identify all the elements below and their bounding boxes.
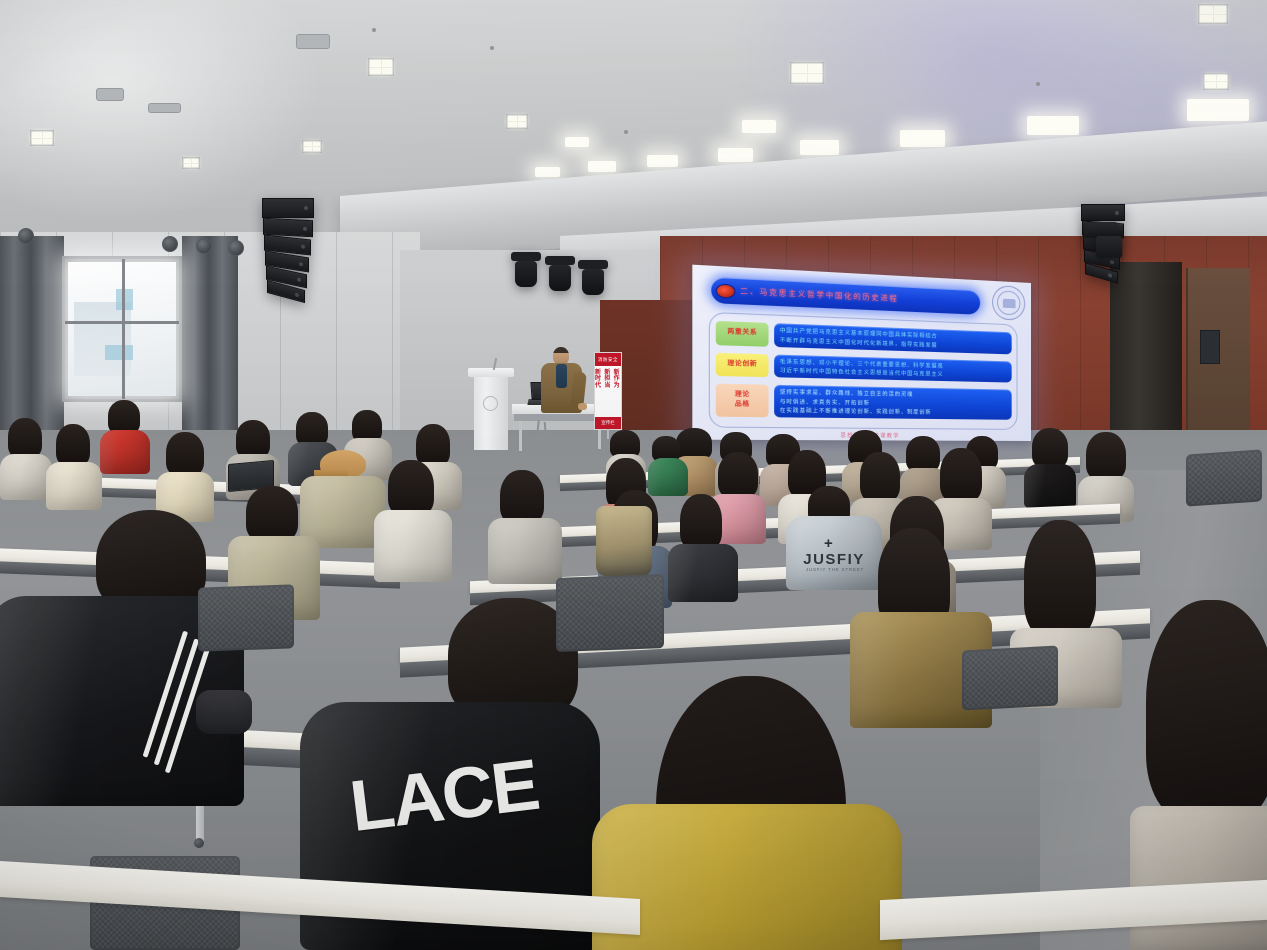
stage-moving-light	[511, 252, 541, 287]
chair[interactable]	[556, 574, 664, 652]
hoodie-plus-mark: +	[824, 536, 833, 551]
presenter-shirt	[556, 364, 567, 388]
ceiling-panel-light	[1187, 99, 1249, 121]
lectern-emblem-icon	[483, 396, 498, 411]
hair	[1032, 428, 1068, 468]
stage-truss-light	[1096, 236, 1122, 258]
wall-speaker	[162, 236, 178, 252]
seal-core	[1002, 298, 1015, 308]
backpack	[596, 506, 652, 576]
roll-up-banner: 消防安全 新时代 新担当 新作为 宣传栏	[594, 352, 622, 430]
chair[interactable]	[962, 645, 1058, 710]
hair	[680, 494, 722, 550]
hair	[416, 424, 450, 466]
ceiling-air-vent	[148, 103, 181, 113]
ceiling-quad-light	[506, 114, 528, 129]
chair-mesh	[964, 648, 1056, 709]
chair-mesh	[558, 576, 662, 650]
hair	[1146, 600, 1267, 820]
hair	[108, 400, 140, 434]
projection-screen: 二、马克思主义哲学中国化的历史进程 两重关系 中国共产党把马克思主义基本原理同中…	[692, 265, 1031, 441]
torso	[0, 454, 52, 500]
ceiling-panel-light	[742, 120, 776, 133]
ceiling-panel-light	[535, 167, 560, 177]
banner-footer: 宣传栏	[595, 417, 621, 429]
hair	[1086, 432, 1126, 480]
lectern-top	[468, 368, 514, 377]
window-curtain-left	[0, 236, 64, 436]
torso	[488, 518, 562, 584]
banner-column-text: 新作为	[614, 370, 621, 389]
sprinkler-head	[624, 130, 628, 134]
seal-inner-ring	[997, 290, 1020, 315]
torso	[1024, 464, 1076, 508]
slide-row-label: 理论创新	[716, 352, 769, 377]
ceiling-quad-light	[30, 130, 54, 146]
slide-row: 理论 品格 坚持实事求是、群众路线、独立自主的活的灵魂 与时俱进、求真务实、开拓…	[716, 384, 1012, 420]
line-array-speaker	[262, 198, 316, 299]
hoodie-brand-text: JUSFIY	[796, 552, 872, 567]
sprinkler-head	[372, 28, 376, 32]
door-sign	[1200, 330, 1220, 364]
table-leg	[519, 421, 522, 451]
slide-row-content: 中国共产党把马克思主义基本原理同中国具体实际相结合 不断开辟马克思主义中国化时代…	[774, 323, 1012, 354]
slide-row-label-text-2: 品格	[735, 400, 750, 410]
ceiling-quad-light	[1203, 73, 1229, 90]
presenter-hand	[578, 403, 587, 410]
hair	[8, 418, 42, 458]
exterior-detail	[105, 345, 133, 360]
torso	[100, 430, 150, 474]
ceiling-quad-light	[1198, 4, 1228, 24]
slide-row-label: 理论 品格	[716, 384, 769, 418]
banner-column: 新时代	[595, 370, 602, 410]
chair-mesh	[200, 586, 292, 649]
ceiling-quad-light	[790, 62, 824, 84]
hair	[296, 412, 328, 446]
torso	[648, 458, 688, 496]
ceiling-panel-light	[588, 161, 616, 172]
hair	[500, 470, 544, 524]
wall-speaker	[196, 238, 212, 254]
ceiling-air-vent	[296, 34, 330, 49]
hand	[196, 690, 252, 734]
hair	[246, 486, 298, 542]
ceiling-panel-light	[900, 130, 945, 147]
ceiling-air-vent	[96, 88, 124, 101]
slide-row: 理论创新 毛泽东思想、邓小平理论、三个代表重要思想、科学发展观 习近平新时代中国…	[716, 352, 1012, 382]
hair	[388, 460, 434, 516]
banner-column-text: 新担当	[604, 370, 611, 389]
hair	[906, 436, 940, 472]
banner-body: 新时代 新担当 新作为	[595, 368, 621, 410]
presentation-slide: 二、马克思主义哲学中国化的历史进程 两重关系 中国共产党把马克思主义基本原理同中…	[692, 265, 1031, 441]
desk-caster	[194, 838, 204, 848]
hair	[1024, 520, 1096, 638]
lectern	[474, 374, 508, 450]
banner-header-text: 消防安全	[595, 353, 621, 366]
ceiling-panel-light	[565, 137, 589, 147]
lecture-hall-photo: 二、马克思主义哲学中国化的历史进程 两重关系 中国共产党把马克思主义基本原理同中…	[0, 0, 1267, 950]
wall-speaker	[18, 228, 34, 244]
hoodie-brand-subtext: JUSFIY THE STREET	[800, 568, 870, 573]
slide-body: 两重关系 中国共产党把马克思主义基本原理同中国具体实际相结合 不断开辟马克思主义…	[709, 312, 1018, 430]
ceiling-panel-light	[647, 155, 678, 167]
window-mullion	[65, 321, 179, 324]
sprinkler-head	[490, 46, 494, 50]
banner-column-text: 新时代	[595, 370, 602, 389]
chair[interactable]	[198, 584, 294, 651]
ceiling-panel-light	[800, 140, 839, 155]
torso	[1130, 806, 1267, 950]
banner-column: 新作为	[614, 370, 621, 410]
chair[interactable]	[1186, 449, 1262, 506]
slide-row-label: 两重关系	[716, 321, 769, 346]
ceiling-quad-light	[182, 157, 200, 169]
slide-row-content: 毛泽东思想、邓小平理论、三个代表重要思想、科学发展观 习近平新时代中国特色社会主…	[774, 354, 1012, 383]
slide-text-line: 在实践基础上不断推进理论创新、实践创新、制度创新	[780, 407, 1007, 417]
hair	[56, 424, 90, 466]
hair	[236, 420, 270, 458]
slide-row: 两重关系 中国共产党把马克思主义基本原理同中国具体实际相结合 不断开辟马克思主义…	[716, 321, 1012, 354]
torso	[374, 510, 452, 582]
ceiling-quad-light	[302, 140, 322, 153]
ceiling-panel-light	[718, 148, 753, 162]
ceiling-quad-light	[368, 58, 394, 76]
window-mullion	[122, 259, 125, 399]
slide-row-content: 坚持实事求是、群众路线、独立自主的活的灵魂 与时俱进、求真务实、开拓创新 在实践…	[774, 385, 1012, 420]
torso	[668, 544, 738, 602]
slide-row-label-text: 理论	[735, 391, 750, 401]
window	[62, 256, 182, 402]
wall-speaker	[228, 240, 244, 256]
university-seal-icon	[992, 285, 1025, 321]
slide-title-bar: 二、马克思主义哲学中国化的历史进程	[711, 277, 980, 315]
hair	[718, 452, 758, 498]
slide-title: 二、马克思主义哲学中国化的历史进程	[740, 286, 898, 304]
hair	[940, 448, 982, 502]
ceiling-panel-light	[1027, 116, 1079, 135]
banner-footer-text: 宣传栏	[595, 417, 621, 429]
stage-moving-light	[545, 256, 575, 291]
chair-mesh	[1188, 451, 1260, 504]
slide-row-label-text: 理论创新	[727, 360, 757, 370]
stage-moving-light	[578, 260, 608, 295]
hair	[166, 432, 204, 476]
torso	[46, 462, 102, 510]
window-curtain-right	[182, 236, 238, 442]
slide-row-label-text: 两重关系	[727, 328, 757, 339]
sprinkler-head	[1036, 82, 1040, 86]
red-party-emblem-icon	[716, 283, 736, 298]
banner-column: 新担当	[604, 370, 611, 410]
presenter-table-apron	[514, 414, 606, 421]
hair	[860, 452, 900, 502]
banner-stand	[607, 429, 609, 439]
banner-header: 消防安全	[595, 353, 621, 366]
